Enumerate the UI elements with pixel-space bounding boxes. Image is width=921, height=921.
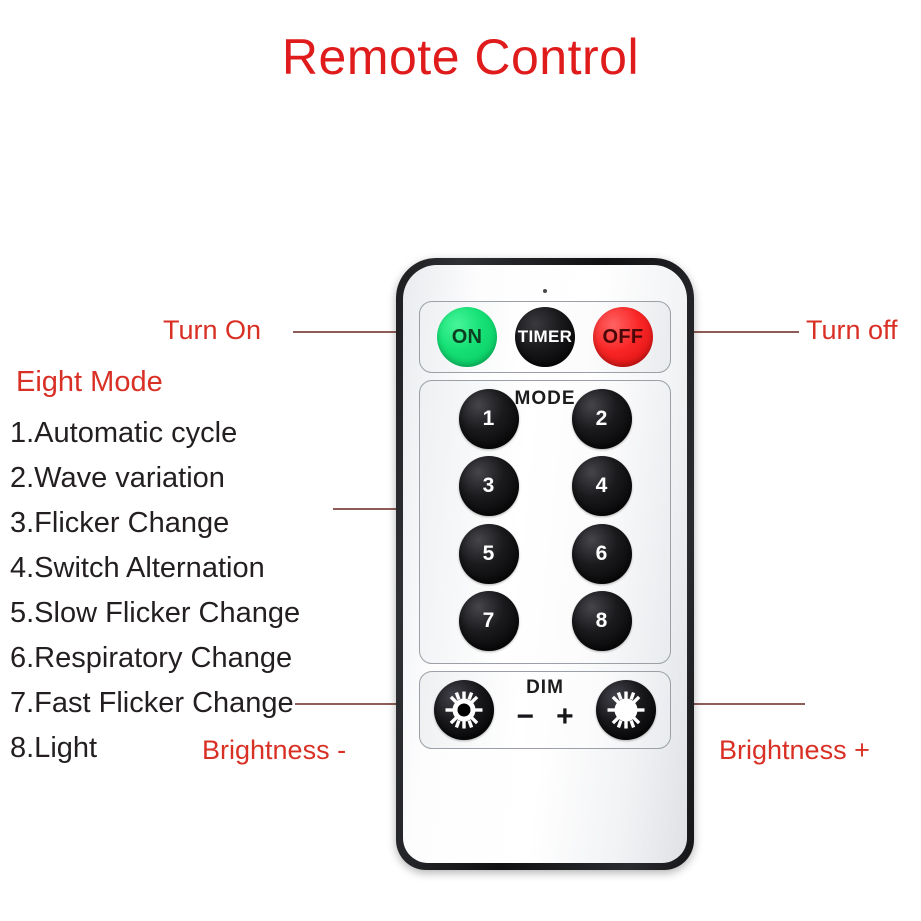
list-item: 8.Light	[10, 726, 340, 771]
list-item: 2.Wave variation	[10, 456, 340, 501]
annotation-turn-on: Turn On	[163, 317, 261, 344]
brightness-up-button[interactable]	[596, 680, 656, 740]
leader-line-turn-off	[693, 331, 799, 333]
mode-button-2[interactable]: 2	[572, 389, 632, 449]
mode-button-6[interactable]: 6	[572, 524, 632, 584]
ir-emitter-dot	[543, 289, 547, 293]
list-item: 7.Fast Flicker Change	[10, 681, 340, 726]
remote-faceplate: ON TIMER OFF MODE 1 2 3 4 5 6 7 8 DIM	[403, 265, 687, 863]
sun-hollow-icon	[604, 688, 648, 732]
list-item: 4.Switch Alternation	[10, 546, 340, 591]
dim-minus-sign: −	[516, 702, 534, 732]
off-button[interactable]: OFF	[593, 307, 653, 367]
remote-control-device: ON TIMER OFF MODE 1 2 3 4 5 6 7 8 DIM	[396, 258, 694, 870]
on-button[interactable]: ON	[437, 307, 497, 367]
eight-mode-list: Eight Mode 1.Automatic cycle 2.Wave vari…	[10, 368, 340, 771]
timer-button[interactable]: TIMER	[515, 307, 575, 367]
dim-plus-sign: +	[556, 702, 574, 732]
annotation-brightness-plus: Brightness +	[719, 737, 870, 764]
mode-button-grid: 1 2 3 4 5 6 7 8	[432, 385, 658, 655]
dim-panel: DIM	[419, 671, 671, 749]
mode-button-7[interactable]: 7	[459, 591, 519, 651]
list-item: 6.Respiratory Change	[10, 636, 340, 681]
leader-line-turn-on	[293, 331, 399, 333]
mode-button-1[interactable]: 1	[459, 389, 519, 449]
leader-line-brightness-plus	[693, 703, 805, 705]
list-item: 1.Automatic cycle	[10, 411, 340, 456]
mode-button-8[interactable]: 8	[572, 591, 632, 651]
sun-filled-icon	[442, 688, 486, 732]
power-panel: ON TIMER OFF	[419, 301, 671, 373]
page-title: Remote Control	[0, 32, 921, 82]
list-item: 5.Slow Flicker Change	[10, 591, 340, 636]
annotation-turn-off: Turn off	[806, 317, 898, 344]
list-item: 3.Flicker Change	[10, 501, 340, 546]
mode-panel: MODE 1 2 3 4 5 6 7 8	[419, 380, 671, 664]
mode-button-5[interactable]: 5	[459, 524, 519, 584]
mode-button-4[interactable]: 4	[572, 456, 632, 516]
eight-mode-heading: Eight Mode	[16, 368, 340, 397]
leader-line-mode-list	[333, 508, 399, 510]
mode-button-3[interactable]: 3	[459, 456, 519, 516]
brightness-down-button[interactable]	[434, 680, 494, 740]
